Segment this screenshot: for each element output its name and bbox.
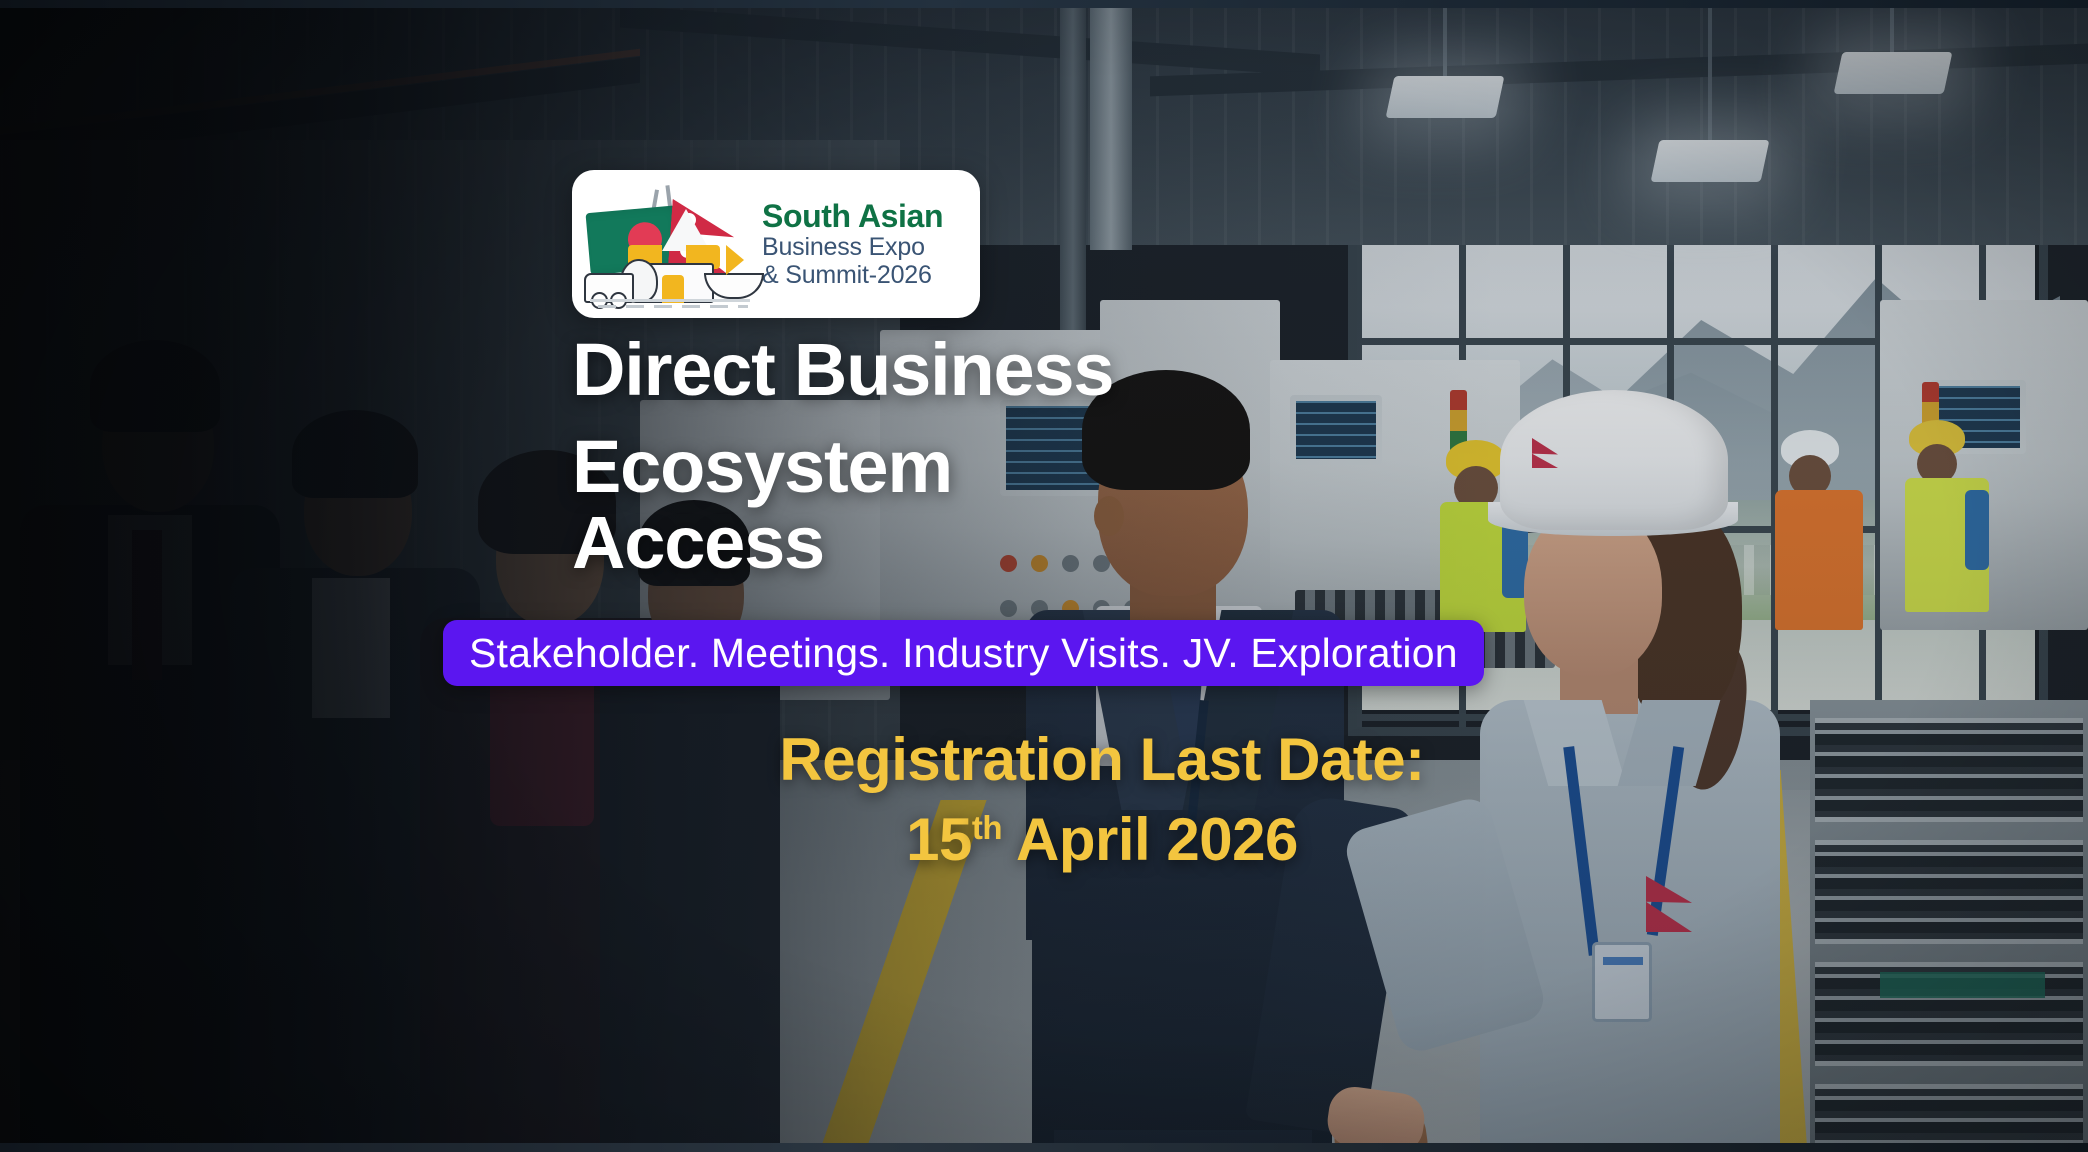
registration-deadline: Registration Last Date: 15th April 2026 bbox=[572, 728, 1632, 871]
headline-line-2: Ecosystem bbox=[572, 429, 1632, 504]
registration-day: 15 bbox=[906, 806, 972, 873]
logo-illustration bbox=[584, 181, 756, 307]
registration-date: 15th April 2026 bbox=[572, 808, 1632, 872]
event-logo-card: South Asian Business Expo & Summit-2026 bbox=[572, 170, 980, 318]
registration-label: Registration Last Date: bbox=[572, 728, 1632, 792]
promotional-banner: South Asian Business Expo & Summit-2026 … bbox=[0, 0, 2088, 1152]
registration-month-year: April 2026 bbox=[1002, 806, 1298, 873]
ground-line bbox=[590, 299, 750, 302]
headline-line-3: Access bbox=[572, 505, 1632, 580]
logo-line-business-expo: Business Expo bbox=[762, 235, 943, 260]
banner-content: South Asian Business Expo & Summit-2026 … bbox=[0, 0, 2088, 1152]
logo-line-summit-year: & Summit-2026 bbox=[762, 263, 943, 288]
boat-sail bbox=[726, 245, 744, 275]
logo-wordmark: South Asian Business Expo & Summit-2026 bbox=[762, 200, 943, 288]
highlights-pill-text: Stakeholder. Meetings. Industry Visits. … bbox=[469, 630, 1458, 677]
highlights-pill: Stakeholder. Meetings. Industry Visits. … bbox=[443, 620, 1484, 686]
registration-ordinal: th bbox=[972, 809, 1002, 846]
headline-line-1: Direct Business bbox=[572, 332, 1632, 407]
logo-line-south-asian: South Asian bbox=[762, 200, 943, 232]
page-title: Direct Business Ecosystem Access bbox=[572, 332, 1632, 580]
ground-dashes bbox=[598, 305, 748, 308]
